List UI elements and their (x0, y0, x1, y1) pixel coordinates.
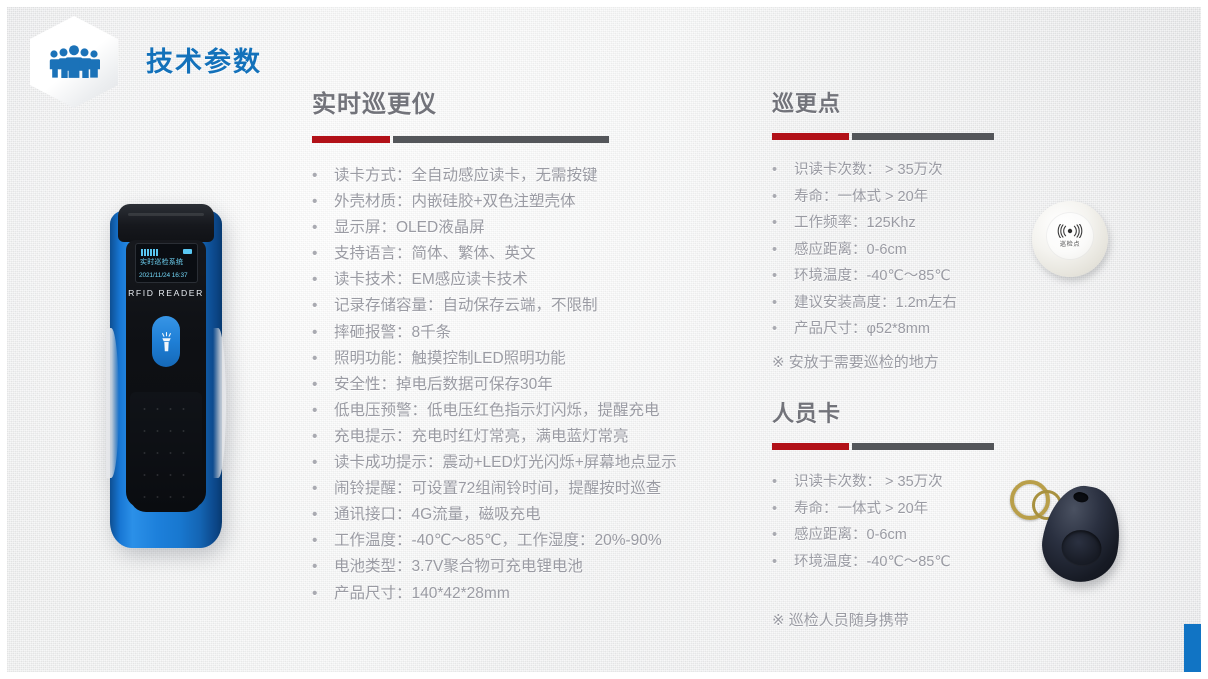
spec-item-text: 读卡技术：EM感应读卡技术 (334, 267, 528, 293)
rfid-wave-icon (1055, 224, 1085, 238)
bullet-icon: • (312, 241, 334, 267)
spec-item: •产品尺寸：140*42*28mm (312, 581, 742, 607)
bullet-icon: • (312, 476, 334, 502)
spec-item-text: 显示屏：OLED液晶屏 (334, 215, 485, 241)
spec-item: •照明功能：触摸控制LED照明功能 (312, 346, 742, 372)
device-grip-panel (130, 392, 202, 512)
spec-list-realtime-patrol-device: •读卡方式：全自动感应读卡，无需按键•外壳材质：内嵌硅胶+双色注塑壳体•显示屏：… (312, 163, 742, 607)
spec-item: •读卡成功提示：震动+LED灯光闪烁+屏幕地点显示 (312, 450, 742, 476)
note-patrol-point: ※ 安放于需要巡检的地方 (772, 351, 1032, 372)
spec-item-text: 读卡成功提示：震动+LED灯光闪烁+屏幕地点显示 (334, 450, 677, 476)
bullet-icon: • (312, 320, 334, 346)
spec-item-text: 工作频率：125Khz (794, 210, 916, 237)
bullet-icon: • (312, 398, 334, 424)
section-title-realtime-patrol-device: 实时巡更仪 (312, 84, 742, 119)
spec-item: •工作温度：-40℃～85℃，工作湿度：20%-90% (312, 528, 742, 554)
rule-gray-segment (852, 443, 994, 450)
slide-canvas: 技术参数 实时巡检系统 2021/11/24 16:37 RFID READER (0, 0, 1208, 679)
bullet-icon: • (772, 263, 794, 290)
spec-item-text: 电池类型：3.7V聚合物可充电锂电池 (334, 554, 583, 580)
bullet-icon: • (312, 215, 334, 241)
spec-item-text: 摔砸报警：8千条 (334, 320, 451, 346)
bullet-icon: • (312, 267, 334, 293)
note-personnel-card: ※ 巡检人员随身携带 (772, 609, 1032, 630)
spec-item-text: 记录存储容量：自动保存云端，不限制 (334, 293, 598, 319)
bullet-icon: • (772, 316, 794, 343)
spec-item: •寿命：一体式 > 20年 (772, 496, 1032, 523)
spec-item-text: 识读卡次数： > 35万次 (794, 157, 943, 184)
bullet-icon: • (772, 210, 794, 237)
bullet-icon: • (772, 522, 794, 549)
spec-item-text: 感应距离：0-6cm (794, 522, 907, 549)
key-fob-hole (1073, 491, 1090, 503)
slide-header: 技术参数 (30, 16, 262, 108)
rule-red-segment (312, 136, 390, 143)
page-title: 技术参数 (146, 16, 262, 108)
rule-gray-segment (852, 133, 994, 140)
section-rule (772, 443, 994, 450)
spec-item-text: 产品尺寸：140*42*28mm (334, 581, 510, 607)
spec-item-text: 寿命：一体式 > 20年 (794, 184, 928, 211)
bullet-icon: • (772, 496, 794, 523)
device-top-cap (118, 204, 214, 242)
accent-bar (1184, 624, 1201, 672)
device-oled-screen: 实时巡检系统 2021/11/24 16:37 (135, 243, 198, 283)
spec-item-text: 环境温度：-40℃～85℃ (794, 549, 951, 576)
section-patrol-point: 巡更点 •识读卡次数： > 35万次•寿命：一体式 > 20年•工作频率：125… (772, 86, 1032, 372)
spec-item-text: 感应距离：0-6cm (794, 237, 907, 264)
spec-item: •识读卡次数： > 35万次 (772, 157, 1032, 184)
bullet-icon: • (312, 293, 334, 319)
header-hex-badge (30, 16, 118, 108)
section-rule (312, 136, 609, 143)
spec-item: •识读卡次数： > 35万次 (772, 469, 1032, 496)
spec-item: •电池类型：3.7V聚合物可充电锂电池 (312, 554, 742, 580)
spec-item-text: 建议安装高度：1.2m左右 (794, 290, 957, 317)
spec-item-text: 产品尺寸：φ52*8mm (794, 316, 930, 343)
key-fob-dimple (1059, 527, 1105, 569)
patrol-point-face: 巡检点 (1046, 212, 1094, 260)
bullet-icon: • (312, 372, 334, 398)
spec-item: •记录存储容量：自动保存云端，不限制 (312, 293, 742, 319)
section-realtime-patrol-device: 实时巡更仪 •读卡方式：全自动感应读卡，无需按键•外壳材质：内嵌硅胶+双色注塑壳… (312, 84, 742, 607)
spec-item: •读卡方式：全自动感应读卡，无需按键 (312, 163, 742, 189)
spec-item: •闹铃提醒：可设置72组闹铃时间，提醒按时巡查 (312, 476, 742, 502)
spec-item: •环境温度：-40℃～85℃ (772, 263, 1032, 290)
spec-item-text: 识读卡次数： > 35万次 (794, 469, 943, 496)
section-personnel-card: 人员卡 •识读卡次数： > 35万次•寿命：一体式 > 20年•感应距离：0-6… (772, 396, 1032, 630)
spec-list-patrol-point: •识读卡次数： > 35万次•寿命：一体式 > 20年•工作频率：125Khz•… (772, 157, 1032, 343)
spec-item: •低电压预警：低电压红色指示灯闪烁，提醒充电 (312, 398, 742, 424)
bullet-icon: • (772, 157, 794, 184)
spec-item-text: 安全性：掉电后数据可保存30年 (334, 372, 553, 398)
spec-item-text: 工作温度：-40℃～85℃，工作湿度：20%-90% (334, 528, 662, 554)
spec-item-text: 读卡方式：全自动感应读卡，无需按键 (334, 163, 598, 189)
bullet-icon: • (312, 189, 334, 215)
bullet-icon: • (772, 237, 794, 264)
spec-item: •建议安装高度：1.2m左右 (772, 290, 1032, 317)
rule-red-segment (772, 133, 849, 140)
spec-item-text: 充电提示：充电时红灯常亮，满电蓝灯常亮 (334, 424, 629, 450)
patrol-point-label: 巡检点 (1060, 239, 1080, 248)
spec-item: •显示屏：OLED液晶屏 (312, 215, 742, 241)
device-screen-battery-icon (183, 249, 192, 254)
bullet-icon: • (312, 581, 334, 607)
section-title-patrol-point: 巡更点 (772, 86, 1032, 118)
spec-item-text: 寿命：一体式 > 20年 (794, 496, 928, 523)
bullet-icon: • (312, 450, 334, 476)
device-brand-text: RFID READER (128, 288, 204, 298)
spec-item-text: 环境温度：-40℃～85℃ (794, 263, 951, 290)
bullet-icon: • (312, 502, 334, 528)
spec-item: •读卡技术：EM感应读卡技术 (312, 267, 742, 293)
rule-gray-segment (393, 136, 609, 143)
bullet-icon: • (772, 184, 794, 211)
flashlight-icon (152, 316, 180, 367)
spec-item-text: 照明功能：触摸控制LED照明功能 (334, 346, 566, 372)
bullet-icon: • (772, 549, 794, 576)
spec-list-personnel-card: •识读卡次数： > 35万次•寿命：一体式 > 20年•感应距离：0-6cm•环… (772, 469, 1032, 575)
spec-item: •支持语言：简体、繁体、英文 (312, 241, 742, 267)
spec-item: •充电提示：充电时红灯常亮，满电蓝灯常亮 (312, 424, 742, 450)
bullet-icon: • (312, 163, 334, 189)
spec-item-text: 外壳材质：内嵌硅胶+双色注塑壳体 (334, 189, 576, 215)
spec-item: •产品尺寸：φ52*8mm (772, 316, 1032, 343)
bullet-icon: • (312, 528, 334, 554)
spec-item: •环境温度：-40℃～85℃ (772, 549, 1032, 576)
spec-item: •感应距离：0-6cm (772, 522, 1032, 549)
spec-item-text: 闹铃提醒：可设置72组闹铃时间，提醒按时巡查 (334, 476, 661, 502)
device-screen-signal-icon (141, 249, 158, 256)
spec-item-text: 支持语言：简体、繁体、英文 (334, 241, 536, 267)
spec-item: •工作频率：125Khz (772, 210, 1032, 237)
section-rule (772, 133, 994, 140)
patrol-point-photo: 巡检点 (1032, 201, 1108, 277)
bullet-icon: • (772, 290, 794, 317)
section-title-personnel-card: 人员卡 (772, 396, 1032, 428)
spec-item-text: 低电压预警：低电压红色指示灯闪烁，提醒充电 (334, 398, 660, 424)
spec-item: •外壳材质：内嵌硅胶+双色注塑壳体 (312, 189, 742, 215)
device-screen-title: 实时巡检系统 (140, 257, 194, 267)
device-screen-datetime: 2021/11/24 16:37 (139, 272, 194, 279)
bullet-icon: • (312, 346, 334, 372)
spec-item: •安全性：掉电后数据可保存30年 (312, 372, 742, 398)
bullet-icon: • (312, 424, 334, 450)
device-photo-handheld-reader: 实时巡检系统 2021/11/24 16:37 RFID READER (104, 196, 228, 548)
spec-item: •寿命：一体式 > 20年 (772, 184, 1032, 211)
spec-item: •感应距离：0-6cm (772, 237, 1032, 264)
spec-item-text: 通讯接口：4G流量，磁吸充电 (334, 502, 541, 528)
bullet-icon: • (312, 554, 334, 580)
rule-red-segment (772, 443, 849, 450)
device-waist-shade-right (213, 328, 226, 478)
group-people-icon (30, 16, 118, 108)
spec-item: •摔砸报警：8千条 (312, 320, 742, 346)
spec-item: •通讯接口：4G流量，磁吸充电 (312, 502, 742, 528)
bullet-icon: • (772, 469, 794, 496)
